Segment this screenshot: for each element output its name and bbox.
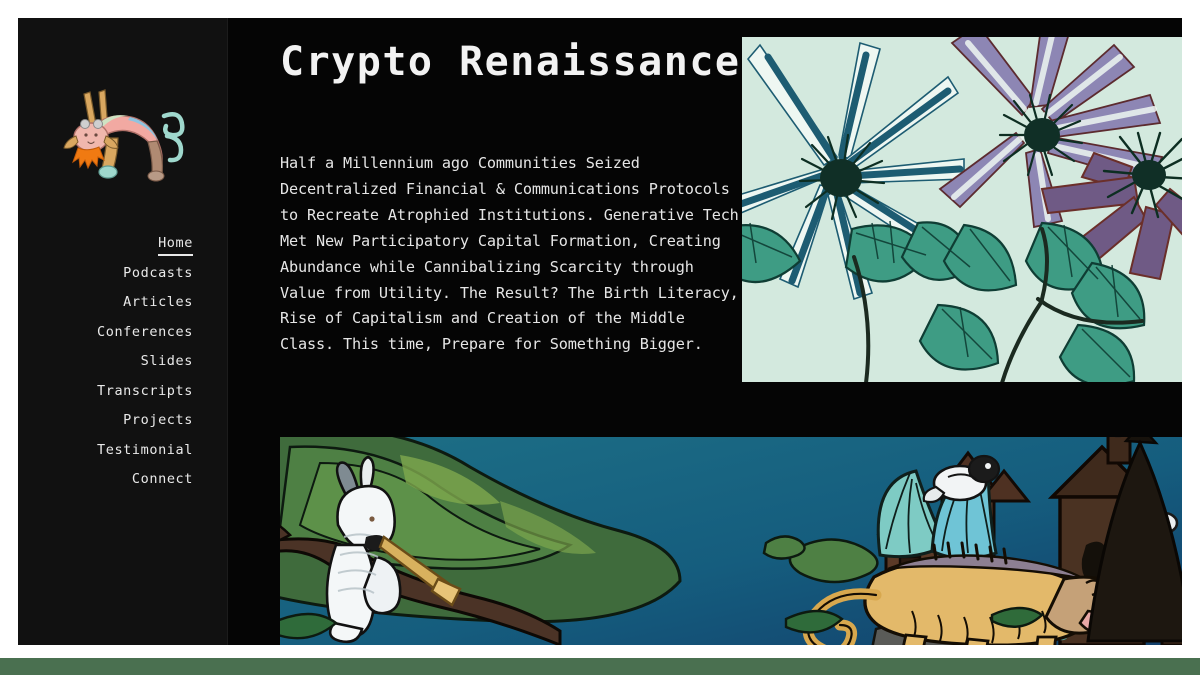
sidebar-item-podcasts[interactable]: Podcasts: [23, 267, 193, 281]
sidebar-nav: Home Podcasts Articles Conferences Slide…: [23, 232, 193, 503]
sidebar-item-home[interactable]: Home: [158, 237, 193, 256]
page-title: Crypto Renaissance: [280, 36, 750, 89]
sidebar-item-slides[interactable]: Slides: [23, 355, 193, 369]
main-content: Crypto Renaissance Half a Millennium ago…: [228, 18, 1182, 645]
bottom-accent-strip: [0, 658, 1200, 675]
medieval-marginalia-banner: [280, 437, 1182, 645]
sidebar-item-conferences[interactable]: Conferences: [23, 326, 193, 340]
sidebar-item-transcripts[interactable]: Transcripts: [23, 385, 193, 399]
intro-paragraph: Half a Millennium ago Communities Seized…: [280, 151, 742, 358]
hybrid-creature-logo[interactable]: [44, 80, 204, 190]
page-root: Home Podcasts Articles Conferences Slide…: [0, 0, 1200, 675]
sidebar-item-projects[interactable]: Projects: [23, 414, 193, 428]
sidebar: Home Podcasts Articles Conferences Slide…: [18, 18, 228, 645]
site-panel: Home Podcasts Articles Conferences Slide…: [18, 18, 1182, 645]
sidebar-item-connect[interactable]: Connect: [23, 473, 193, 487]
sidebar-item-articles[interactable]: Articles: [23, 296, 193, 310]
sidebar-item-testimonial[interactable]: Testimonial: [23, 444, 193, 458]
clematis-flower-painting: [742, 37, 1182, 382]
